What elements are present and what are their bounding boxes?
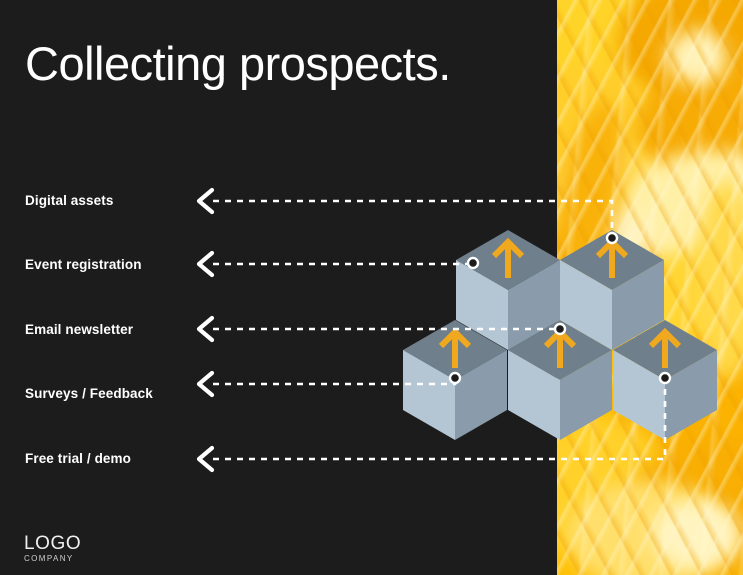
node-email-newsletter <box>555 324 565 334</box>
arrowhead-email-newsletter <box>199 318 212 340</box>
connector-layer <box>0 0 743 575</box>
connector-surveys-feedback <box>213 383 455 384</box>
node-event-registration <box>468 258 478 268</box>
node-surveys-feedback <box>450 373 460 383</box>
arrowhead-free-trial-demo <box>199 448 212 470</box>
arrowhead-surveys-feedback <box>199 373 212 395</box>
slide-canvas: Collecting prospects. Digital assets Eve… <box>0 0 743 575</box>
logo-name: LOGO <box>24 534 81 553</box>
node-free-trial-demo <box>660 373 670 383</box>
logo-tagline: COMPANY <box>24 555 81 563</box>
connector-digital-assets <box>213 201 612 233</box>
node-digital-assets <box>607 233 617 243</box>
arrowhead-event-registration <box>199 253 212 275</box>
connector-free-trial-demo <box>213 383 665 459</box>
arrowhead-digital-assets <box>199 190 212 212</box>
footer-logo: LOGO COMPANY <box>24 534 81 563</box>
